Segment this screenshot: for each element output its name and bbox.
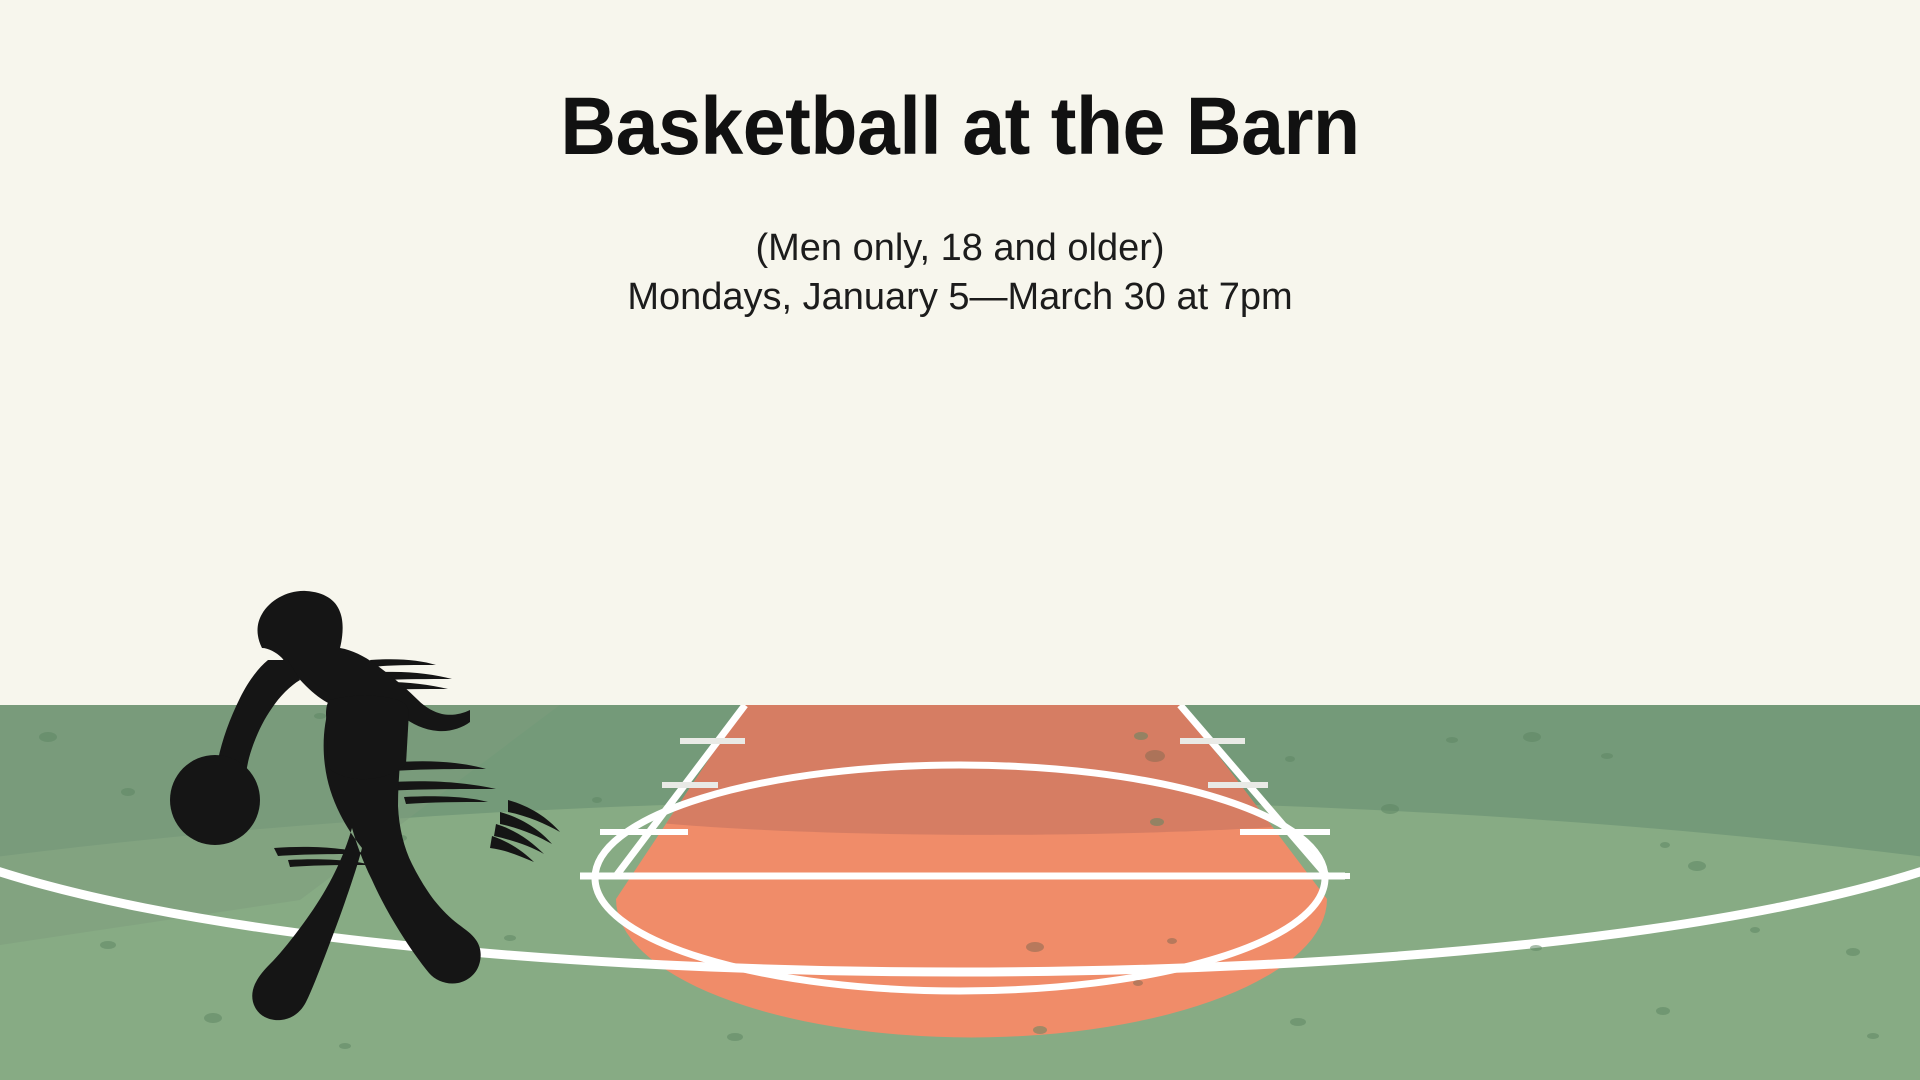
basketball <box>170 755 260 845</box>
poster-text-block: Basketball at the Barn (Men only, 18 and… <box>0 0 1920 321</box>
page-title: Basketball at the Barn <box>58 0 1863 168</box>
event-schedule-line: Mondays, January 5—March 30 at 7pm <box>0 273 1920 322</box>
event-details: (Men only, 18 and older) Mondays, Januar… <box>0 168 1920 321</box>
event-eligibility-line: (Men only, 18 and older) <box>0 224 1920 273</box>
player-shorts <box>326 696 409 780</box>
poster-canvas: Basketball at the Barn (Men only, 18 and… <box>0 0 1920 1080</box>
